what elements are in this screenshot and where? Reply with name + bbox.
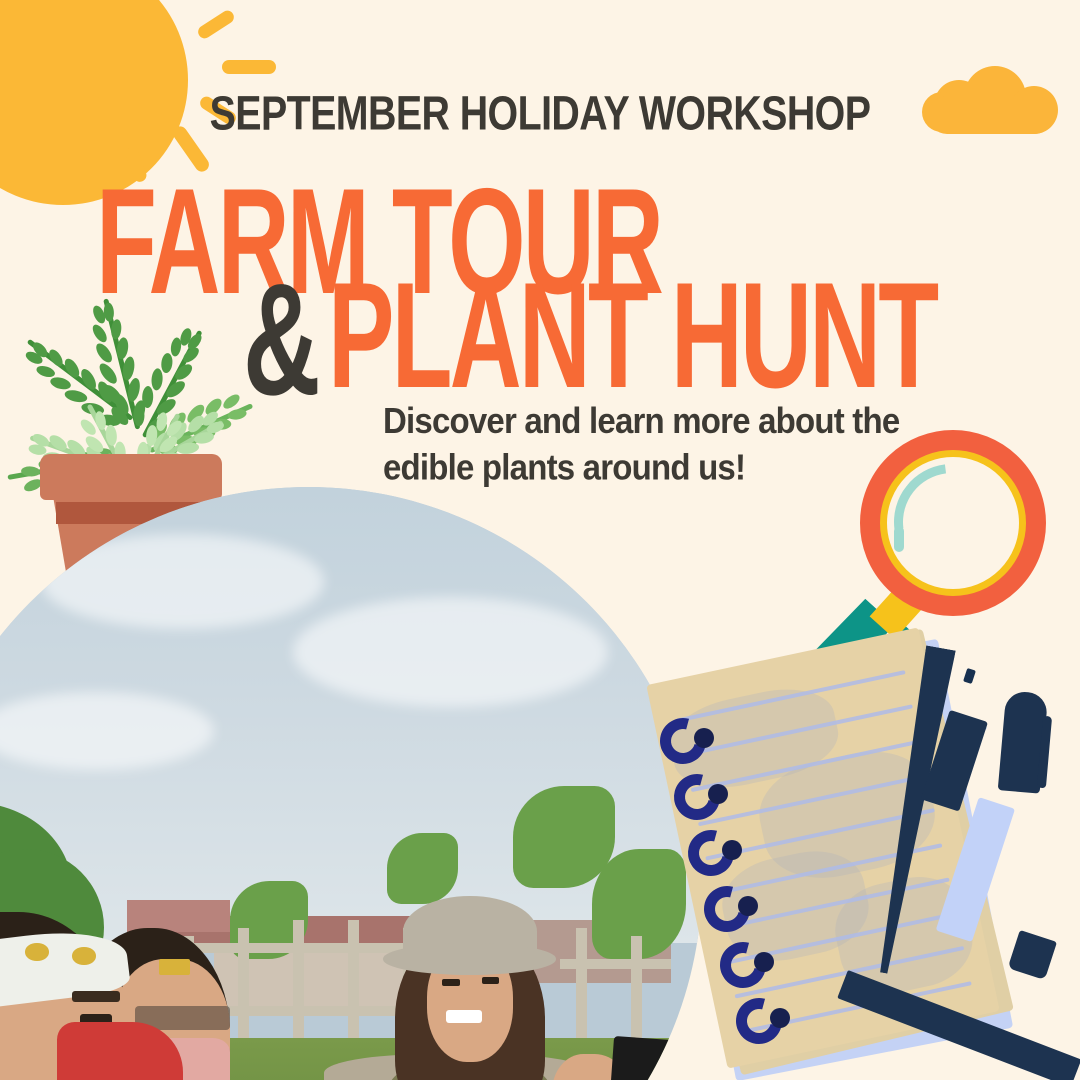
magnifier-glint-dash	[894, 526, 904, 552]
workshop-photo	[0, 487, 702, 1080]
page-kicker: SEPTEMBER HOLIDAY WORKSHOP	[22, 86, 1059, 141]
photo-person-guide-mouth	[446, 1010, 481, 1023]
photo-person-front-brow	[72, 991, 119, 1002]
sun-ray	[222, 60, 276, 74]
pen-end-cap	[1008, 930, 1057, 980]
photo-building	[127, 900, 229, 931]
notepad-spiral-dot	[722, 840, 742, 860]
headline-line-2-row: & PLANT HUNT	[243, 272, 975, 368]
photo-person-front-headband-bee	[25, 943, 49, 960]
sun-ray	[196, 8, 237, 41]
notepad-spiral-dot	[708, 784, 728, 804]
pen-nib	[963, 668, 976, 684]
headline-line-2: PLANT HUNT	[328, 272, 936, 401]
photo-cloud	[293, 597, 608, 707]
photo-cloud	[41, 534, 324, 628]
poster-canvas: SEPTEMBER HOLIDAY WORKSHOP FARM TOUR & P…	[0, 0, 1080, 1080]
photo-person-guide-eye	[482, 977, 499, 984]
notepad-spiral-dot	[738, 896, 758, 916]
spiral-notepad-illustration	[648, 640, 1080, 1080]
notepad-spiral-dot	[770, 1008, 790, 1028]
pen-barrel	[936, 797, 1015, 942]
photo-person-guide-eye	[442, 979, 459, 986]
notepad-spiral-dot	[694, 728, 714, 748]
pen-grip	[921, 710, 988, 812]
photo-person-mid-hairclip	[159, 959, 190, 975]
photo-person-front-headband-bee	[72, 947, 96, 964]
photo-person-guide-hat-brim	[383, 943, 556, 974]
notepad-spiral-dot	[754, 952, 774, 972]
photo-foliage	[387, 833, 458, 904]
